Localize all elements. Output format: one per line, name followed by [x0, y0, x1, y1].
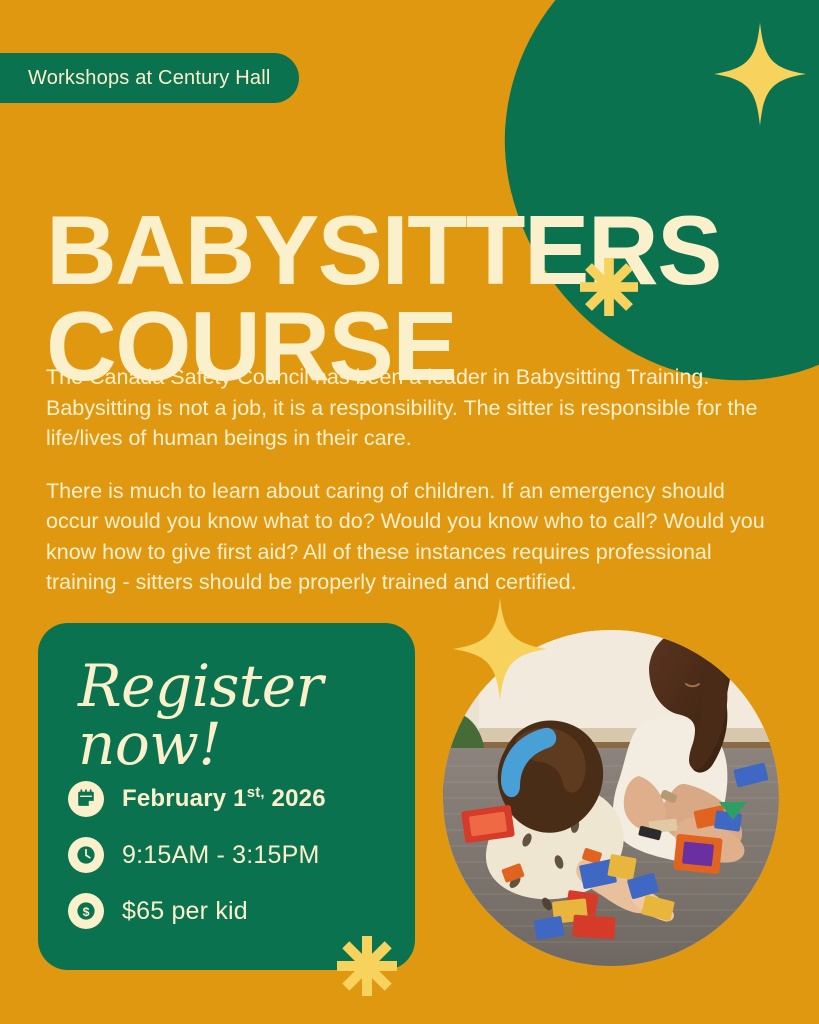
body-paragraph-2: There is much to learn about caring of c… [46, 476, 766, 598]
detail-row-time: 9:15AM - 3:15PM [68, 827, 399, 883]
calendar-icon [68, 781, 104, 817]
dollar-icon: $ [68, 893, 104, 929]
sparkle-star-top-right-icon [714, 22, 806, 126]
event-details-list: February 1st, 2026 9:15AM - 3:15PM $ [68, 771, 399, 939]
clock-icon [68, 837, 104, 873]
detail-text-date: February 1st, 2026 [122, 785, 326, 813]
poster-canvas: Workshops at Century Hall BABYSITTERS CO… [0, 0, 819, 1024]
register-now-heading: Register now! [78, 657, 415, 773]
sparkle-star-photo-icon [452, 598, 548, 700]
detail-row-date: February 1st, 2026 [68, 771, 399, 827]
detail-text-price: $65 per kid [122, 897, 248, 926]
poster-body-copy: The Canada Safety Council has been a lea… [46, 362, 766, 598]
detail-row-price: $ $65 per kid [68, 883, 399, 939]
register-card: Register now! February 1st, 2026 [38, 623, 415, 970]
workshop-tag-badge: Workshops at Century Hall [0, 53, 299, 103]
workshop-tag-label: Workshops at Century Hall [28, 67, 271, 90]
body-paragraph-1: The Canada Safety Council has been a lea… [46, 362, 766, 454]
asterisk-middle-icon [580, 258, 638, 316]
asterisk-bottom-icon [337, 936, 397, 996]
detail-text-time: 9:15AM - 3:15PM [122, 841, 320, 870]
svg-text:$: $ [83, 905, 90, 919]
